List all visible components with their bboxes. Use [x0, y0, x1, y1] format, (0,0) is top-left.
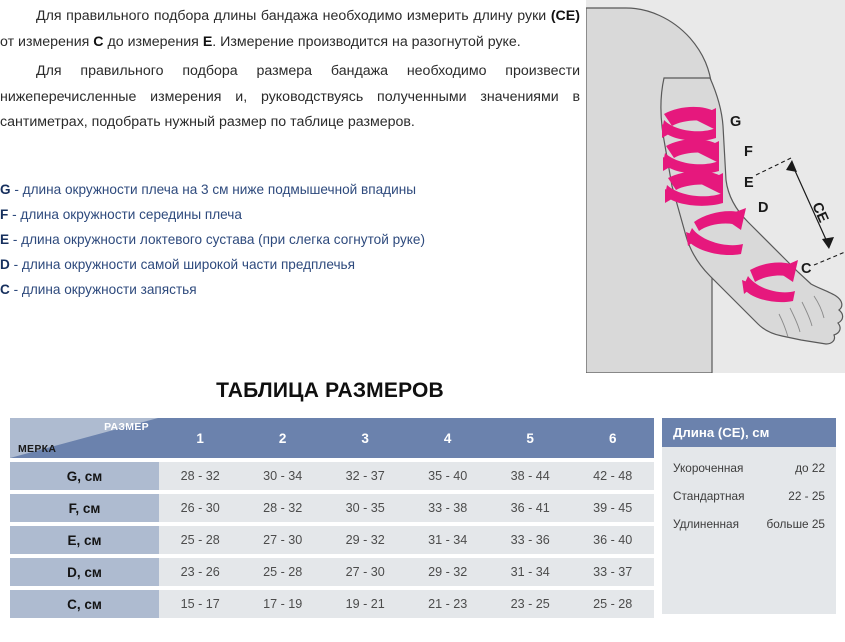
length-row-long: Удлиненная больше 25 [673, 516, 825, 544]
label-d: D [758, 200, 768, 216]
intro-paragraph-1: Для правильного подбора длины бандажа не… [0, 4, 580, 55]
size-header-2: 2 [241, 418, 324, 458]
length-row-standard: Стандартная 22 - 25 [673, 488, 825, 516]
cell-g-1: 28 - 32 [159, 462, 242, 490]
legend-key-e: E [0, 232, 9, 247]
arm-measurement-illustration: G F E D C CE [586, 0, 845, 373]
legend-desc-e: - длина окружности локтевого сустава (пр… [9, 232, 425, 247]
length-value-long: больше 25 [766, 516, 825, 544]
cell-e-5: 33 - 36 [489, 526, 572, 554]
size-table: РАЗМЕР МЕРКА 1 2 3 4 5 6 G, см 28 - 32 3… [10, 418, 654, 618]
intro-p1-text-b: от измерения [0, 34, 93, 50]
cell-d-5: 31 - 34 [489, 558, 572, 586]
legend-key-g: G [0, 182, 11, 197]
intro-text-block: Для правильного подбора длины бандажа не… [0, 4, 580, 140]
cell-c-1: 15 - 17 [159, 590, 242, 618]
cell-f-4: 33 - 38 [406, 494, 489, 522]
size-header-4: 4 [406, 418, 489, 458]
cell-c-4: 21 - 23 [406, 590, 489, 618]
cell-g-4: 35 - 40 [406, 462, 489, 490]
table-row: F, см 26 - 30 28 - 32 30 - 35 33 - 38 36… [10, 494, 654, 522]
row-label-g: G, см [10, 462, 159, 490]
length-name-long: Удлиненная [673, 516, 739, 544]
row-label-f: F, см [10, 494, 159, 522]
legend-desc-d: - длина окружности самой широкой части п… [10, 257, 355, 272]
legend-desc-c: - длина окружности запястья [10, 282, 197, 297]
measurement-legend: G - длина окружности плеча на 3 см ниже … [0, 181, 575, 306]
length-panel-header: Длина (CE), см [662, 418, 836, 447]
cell-g-3: 32 - 37 [324, 462, 407, 490]
cell-d-4: 29 - 32 [406, 558, 489, 586]
cell-f-5: 36 - 41 [489, 494, 572, 522]
legend-key-c: C [0, 282, 10, 297]
cell-e-3: 29 - 32 [324, 526, 407, 554]
intro-p1-text-a: Для правильного подбора длины бандажа не… [36, 8, 551, 24]
table-row: E, см 25 - 28 27 - 30 29 - 32 31 - 34 33… [10, 526, 654, 554]
label-f: F [744, 144, 753, 160]
cell-c-6: 25 - 28 [571, 590, 654, 618]
cell-f-3: 30 - 35 [324, 494, 407, 522]
size-header-1: 1 [159, 418, 242, 458]
size-header-6: 6 [571, 418, 654, 458]
intro-p1-text-c: до измерения [104, 34, 203, 50]
length-value-standard: 22 - 25 [788, 488, 825, 516]
length-row-short: Укороченная до 22 [673, 460, 825, 488]
label-g: G [730, 114, 741, 130]
cell-g-6: 42 - 48 [571, 462, 654, 490]
length-name-short: Укороченная [673, 460, 743, 488]
cell-g-5: 38 - 44 [489, 462, 572, 490]
legend-desc-f: - длина окружности середины плеча [8, 207, 242, 222]
cell-f-1: 26 - 30 [159, 494, 242, 522]
label-e: E [744, 175, 754, 191]
legend-key-d: D [0, 257, 10, 272]
cell-c-2: 17 - 19 [241, 590, 324, 618]
length-value-short: до 22 [795, 460, 825, 488]
intro-p1-text-d: . Измерение производится на разогнутой р… [212, 34, 520, 50]
legend-item-d: D - длина окружности самой широкой части… [0, 256, 575, 281]
length-name-standard: Стандартная [673, 488, 744, 516]
length-panel-body: Укороченная до 22 Стандартная 22 - 25 Уд… [662, 447, 836, 544]
cell-g-2: 30 - 34 [241, 462, 324, 490]
legend-item-e: E - длина окружности локтевого сустава (… [0, 231, 575, 256]
size-header-5: 5 [489, 418, 572, 458]
intro-p1-e: E [203, 34, 212, 50]
cell-c-5: 23 - 25 [489, 590, 572, 618]
row-label-e: E, см [10, 526, 159, 554]
intro-paragraph-2: Для правильного подбора размера бандажа … [0, 59, 580, 136]
cell-d-3: 27 - 30 [324, 558, 407, 586]
cell-f-6: 39 - 45 [571, 494, 654, 522]
cell-d-2: 25 - 28 [241, 558, 324, 586]
cell-e-6: 36 - 40 [571, 526, 654, 554]
corner-measure-label: МЕРКА [18, 443, 56, 455]
intro-p1-c: C [93, 34, 103, 50]
length-panel: Длина (CE), см Укороченная до 22 Стандар… [662, 418, 836, 614]
cell-e-4: 31 - 34 [406, 526, 489, 554]
label-c: C [801, 261, 812, 277]
cell-c-3: 19 - 21 [324, 590, 407, 618]
size-header-3: 3 [324, 418, 407, 458]
corner-size-label: РАЗМЕР [104, 421, 149, 433]
table-header-row: РАЗМЕР МЕРКА 1 2 3 4 5 6 [10, 418, 654, 458]
intro-p1-ce: (CE) [551, 8, 580, 24]
legend-item-c: C - длина окружности запястья [0, 281, 575, 306]
cell-d-6: 33 - 37 [571, 558, 654, 586]
legend-desc-g: - длина окружности плеча на 3 см ниже по… [11, 182, 416, 197]
table-row: C, см 15 - 17 17 - 19 19 - 21 21 - 23 23… [10, 590, 654, 618]
legend-item-g: G - длина окружности плеча на 3 см ниже … [0, 181, 575, 206]
table-row: D, см 23 - 26 25 - 28 27 - 30 29 - 32 31… [10, 558, 654, 586]
table-row: G, см 28 - 32 30 - 34 32 - 37 35 - 40 38… [10, 462, 654, 490]
corner-header-cell: РАЗМЕР МЕРКА [10, 418, 159, 458]
cell-e-1: 25 - 28 [159, 526, 242, 554]
page-title: ТАБЛИЦА РАЗМЕРОВ [0, 379, 660, 403]
cell-e-2: 27 - 30 [241, 526, 324, 554]
row-label-c: C, см [10, 590, 159, 618]
cell-d-1: 23 - 26 [159, 558, 242, 586]
legend-item-f: F - длина окружности середины плеча [0, 206, 575, 231]
row-label-d: D, см [10, 558, 159, 586]
cell-f-2: 28 - 32 [241, 494, 324, 522]
